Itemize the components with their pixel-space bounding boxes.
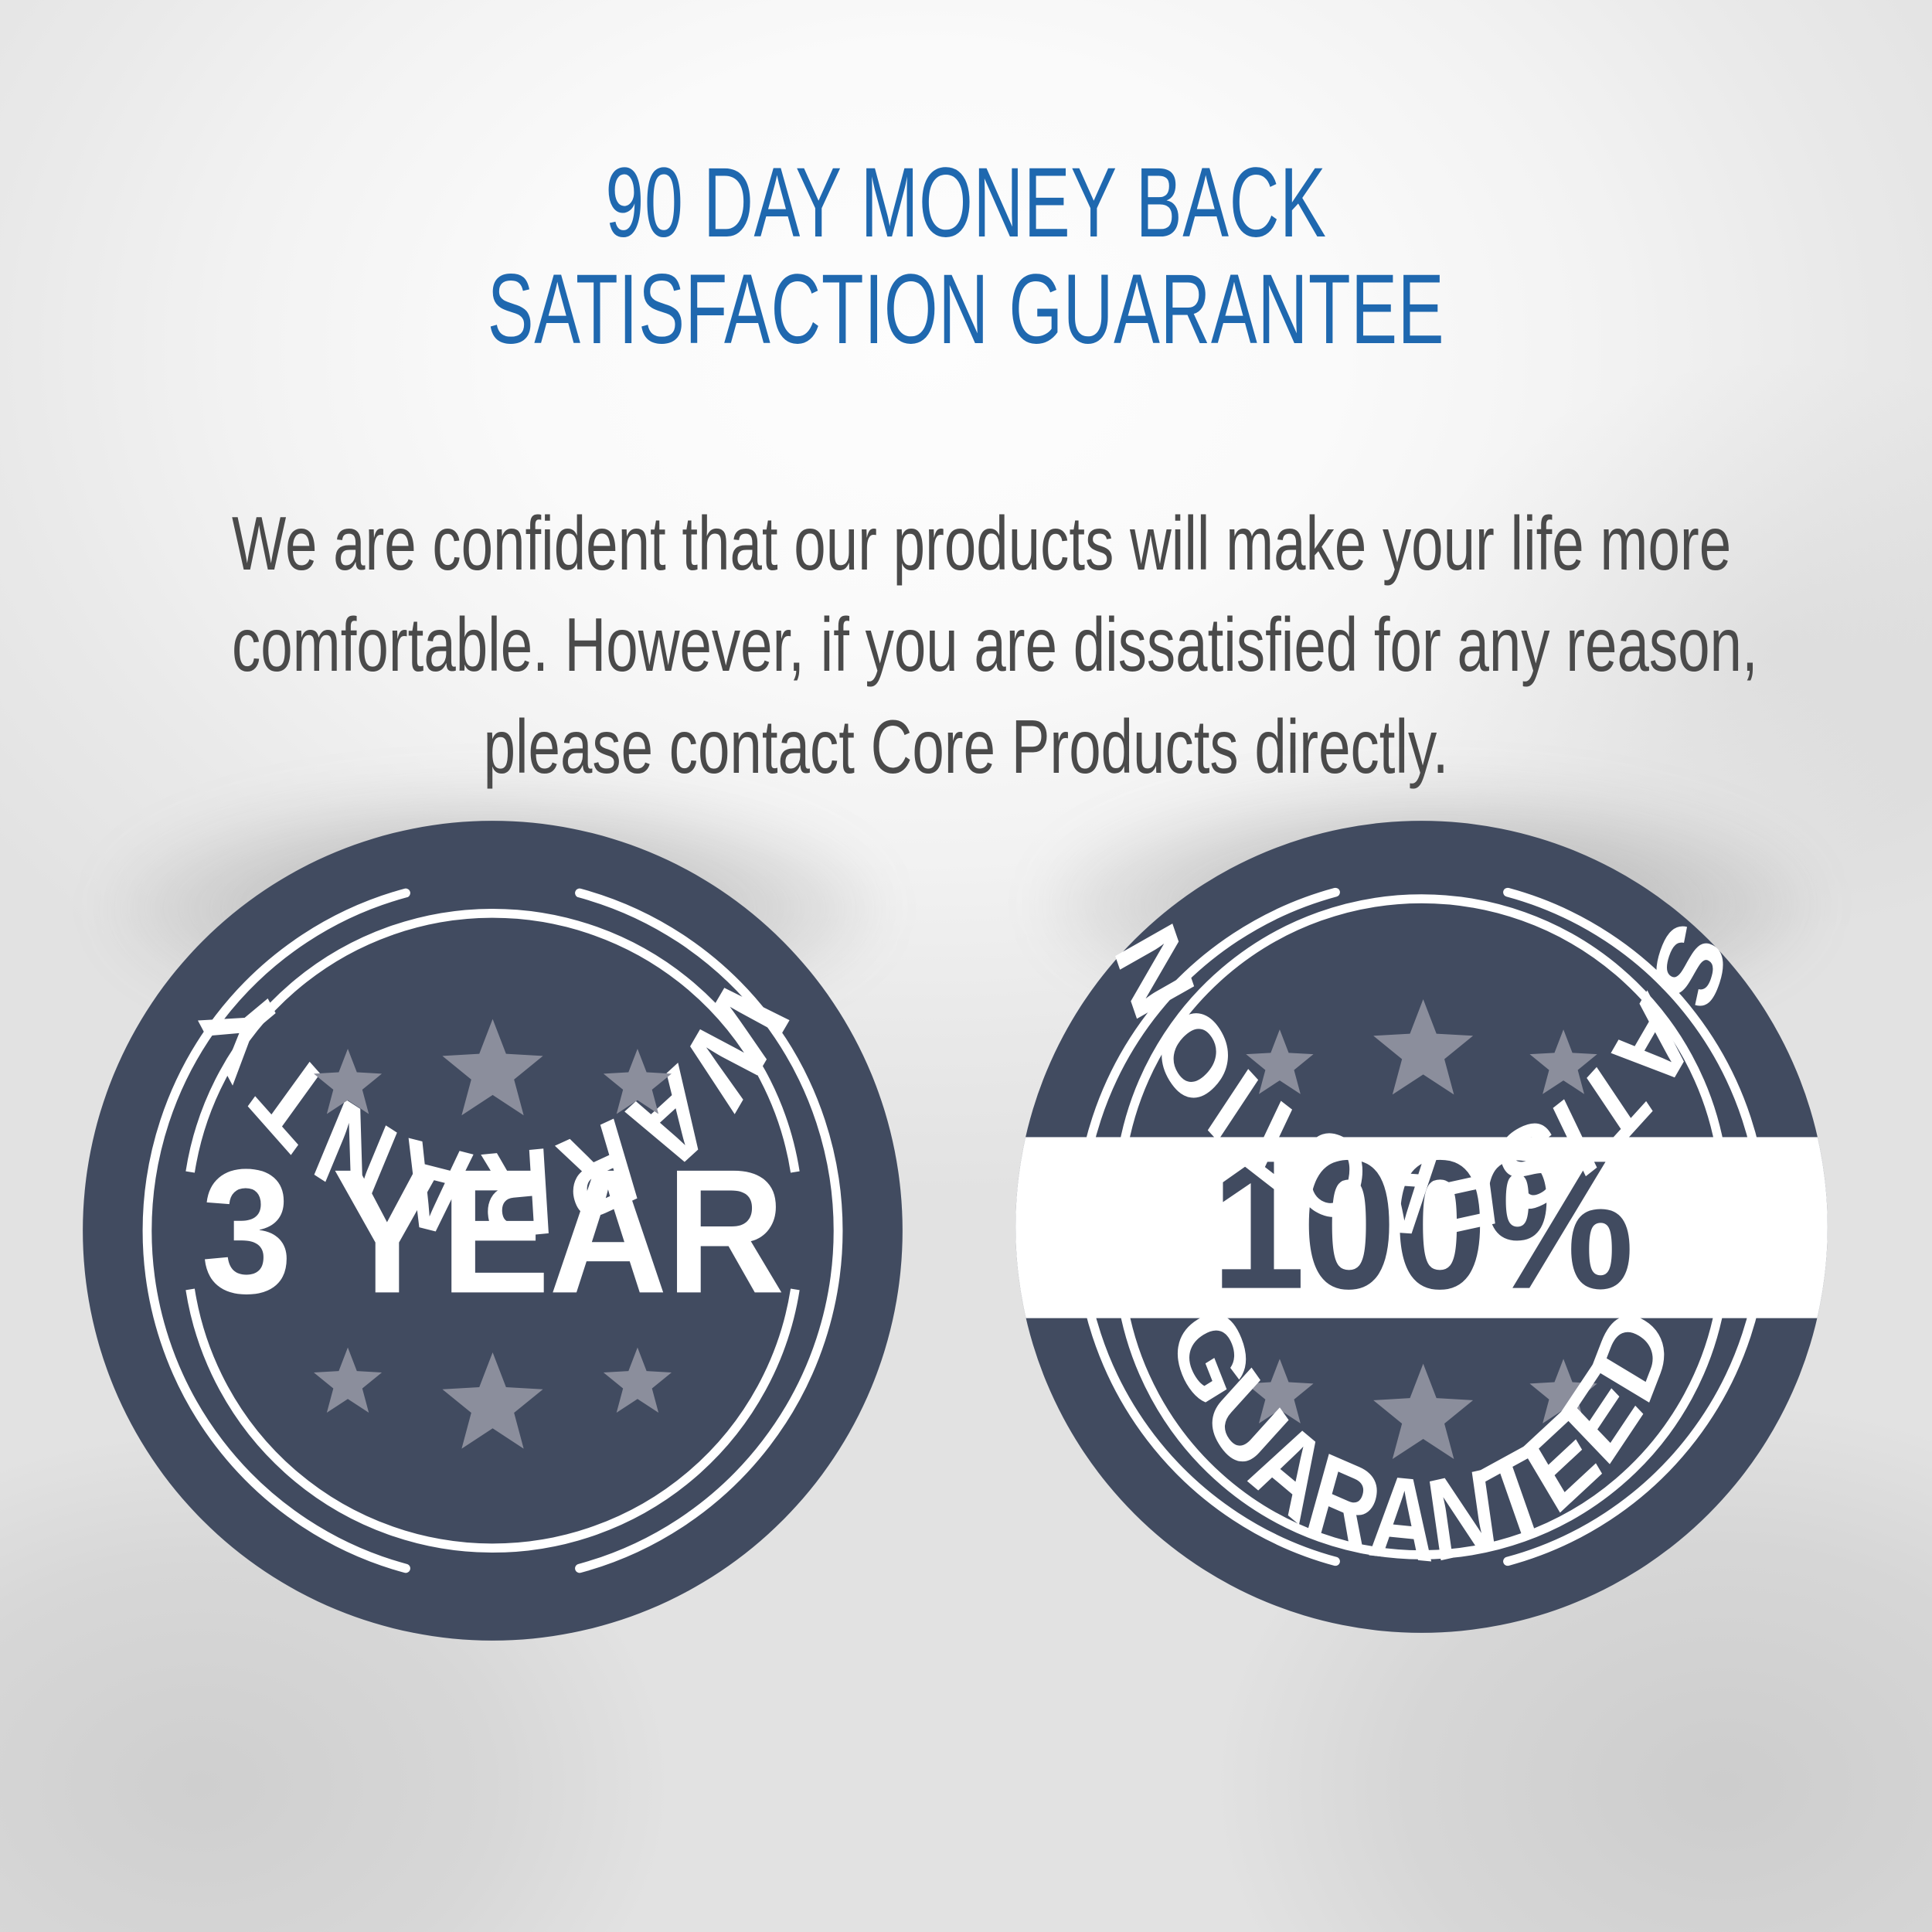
page-title: 90 DAY MONEY BACK SATISFACTION GUARANTEE (290, 150, 1642, 363)
body-copy: We are confident that our products will … (232, 493, 1700, 798)
body-copy-line-3: please contact Core Products directly. (232, 696, 1700, 798)
body-copy-line-2: comfortable. However, if you are dissati… (232, 594, 1700, 696)
warranty-badge-graphic: WARRANTY 3 YEAR (81, 819, 904, 1642)
headline-line-1: 90 DAY MONEY BACK (290, 150, 1642, 257)
warranty-center-text: 3 YEAR (201, 1132, 783, 1330)
satisfaction-badge-graphic: 100% SATISFACTION GUARANTEED (1014, 819, 1829, 1634)
guarantee-banner: 90 DAY MONEY BACK SATISFACTION GUARANTEE… (0, 0, 1932, 1932)
satisfaction-badge: 100% SATISFACTION GUARANTEED (1014, 819, 1829, 1634)
body-copy-line-1: We are confident that our products will … (232, 493, 1700, 594)
badge-row: WARRANTY 3 YEAR (0, 819, 1932, 1747)
warranty-badge: WARRANTY 3 YEAR (81, 819, 904, 1642)
headline-line-2: SATISFACTION GUARANTEE (290, 257, 1642, 363)
